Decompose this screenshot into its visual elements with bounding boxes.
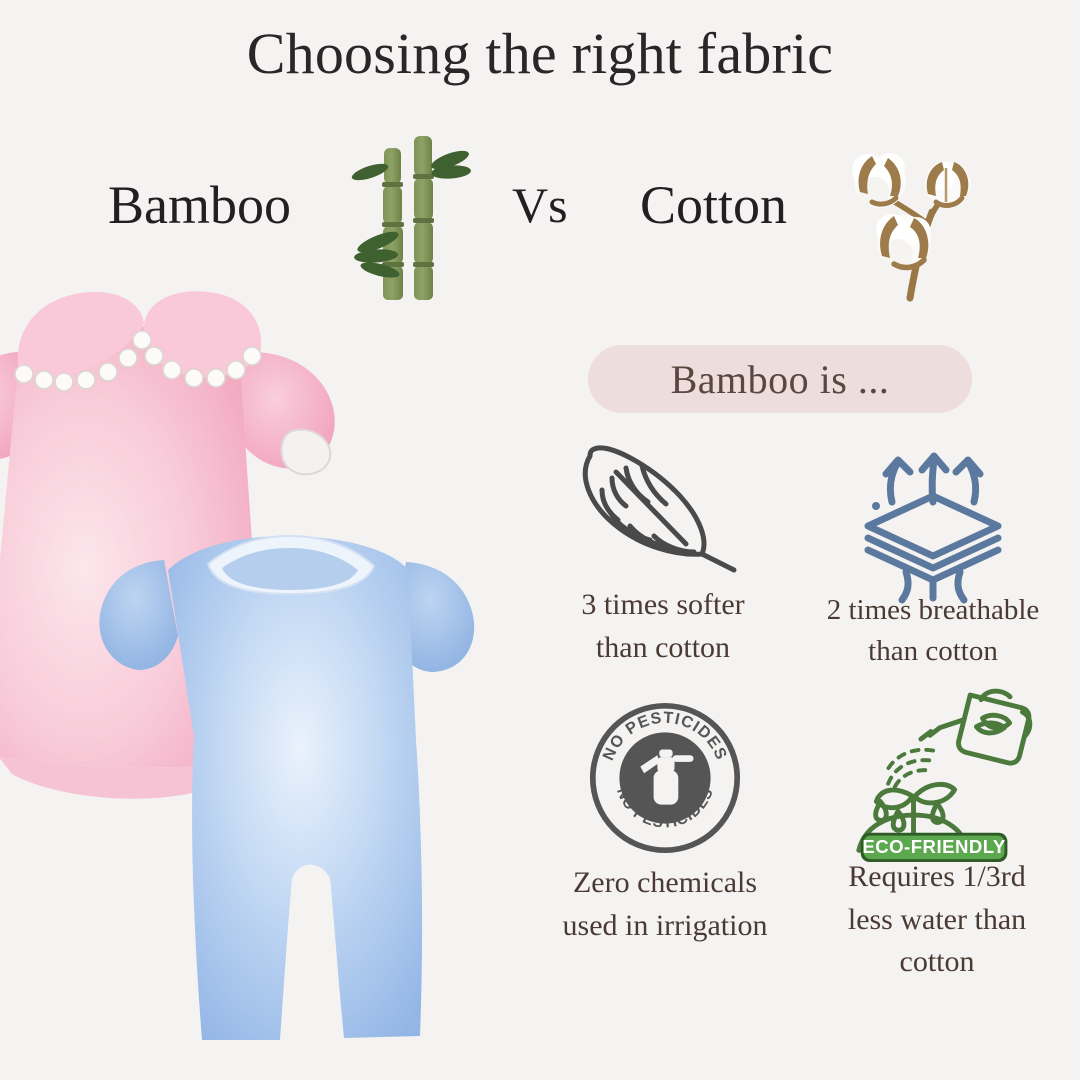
- benefit-softness-line2: than cotton: [532, 627, 794, 670]
- infographic-poster: Choosing the right fabric Bamboo: [0, 0, 1080, 1080]
- benefit-no-pesticides-label: Zero chemicals used in irrigation: [530, 862, 800, 947]
- benefit-water-usage-line2: less water than: [806, 899, 1068, 942]
- benefit-breathability-line2: than cotton: [802, 631, 1064, 672]
- benefit-breathability-label: 2 times breathable than cotton: [798, 590, 1068, 672]
- feather-icon: [528, 432, 798, 582]
- comparison-right-label: Cotton: [640, 178, 787, 232]
- benefit-softness: 3 times softer than cotton: [528, 432, 798, 669]
- section-heading-text: Bamboo is ...: [671, 356, 890, 403]
- no-pesticides-stamp-icon: NO PESTICIDES NO PESTICIDES: [530, 698, 800, 858]
- benefit-softness-line1: 3 times softer: [532, 584, 794, 627]
- benefit-no-pesticides: NO PESTICIDES NO PESTICIDES Zero chemica…: [530, 698, 800, 947]
- benefit-no-pesticides-line1: Zero chemicals: [534, 862, 796, 905]
- baby-clothes-illustration: [0, 270, 540, 1070]
- benefit-water-usage-line3: cotton: [806, 941, 1068, 984]
- comparison-left-label: Bamboo: [108, 178, 291, 232]
- benefit-breathability-line1: 2 times breathable: [802, 590, 1064, 631]
- breathable-layers-icon: [798, 440, 1068, 590]
- benefit-no-pesticides-line2: used in irrigation: [534, 905, 796, 948]
- section-heading-badge: Bamboo is ...: [588, 345, 972, 413]
- benefit-water-usage: ECO-FRIENDLY Requires 1/3rd less water t…: [802, 690, 1072, 984]
- eco-friendly-badge-text: ECO-FRIENDLY: [862, 836, 1006, 857]
- benefit-water-usage-label: Requires 1/3rd less water than cotton: [802, 856, 1072, 984]
- page-title: Choosing the right fabric: [0, 22, 1080, 87]
- benefit-breathability: 2 times breathable than cotton: [798, 440, 1068, 672]
- cotton-branch-icon: [832, 112, 992, 312]
- benefits-grid: 3 times softer than cotton: [520, 432, 1080, 1072]
- watering-can-plant-icon: ECO-FRIENDLY: [802, 690, 1072, 862]
- comparison-versus-label: Vs: [512, 180, 568, 230]
- benefit-softness-label: 3 times softer than cotton: [528, 584, 798, 669]
